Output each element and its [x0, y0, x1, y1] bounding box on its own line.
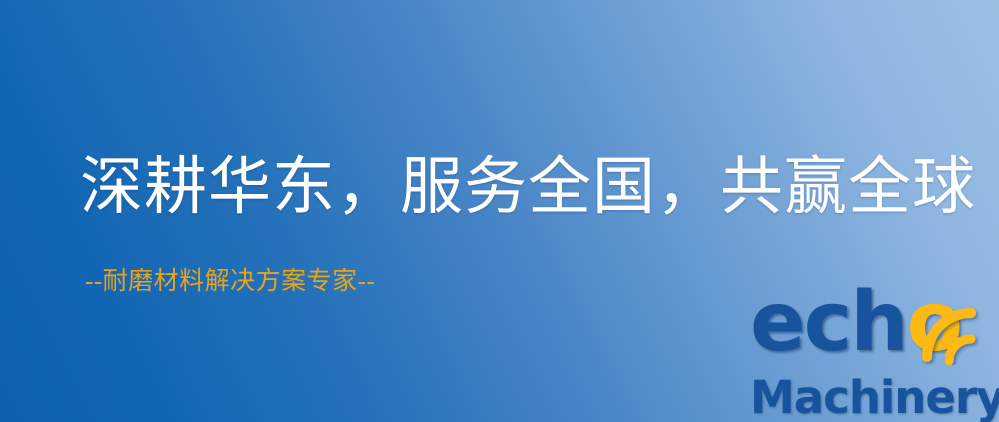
banner-subheadline: --耐磨材料解决方案专家-- [85, 266, 375, 298]
logo-tagline: Machinery® [750, 368, 999, 422]
logo-wordmark: echo [748, 296, 999, 378]
logo-letter-e: e [750, 275, 804, 370]
banner-headline: 深耕华东，服务全国，共赢全球 [80, 150, 976, 224]
signal-arcs-icon [921, 293, 999, 365]
promo-banner: 深耕华东，服务全国，共赢全球 --耐磨材料解决方案专家-- echo Machi… [0, 0, 999, 422]
logo-letter-c: c [804, 275, 851, 370]
logo-letter-h: h [850, 275, 906, 370]
company-logo[interactable]: echo Machinery® [748, 296, 999, 422]
logo-tagline-text: Machinery [750, 371, 999, 422]
